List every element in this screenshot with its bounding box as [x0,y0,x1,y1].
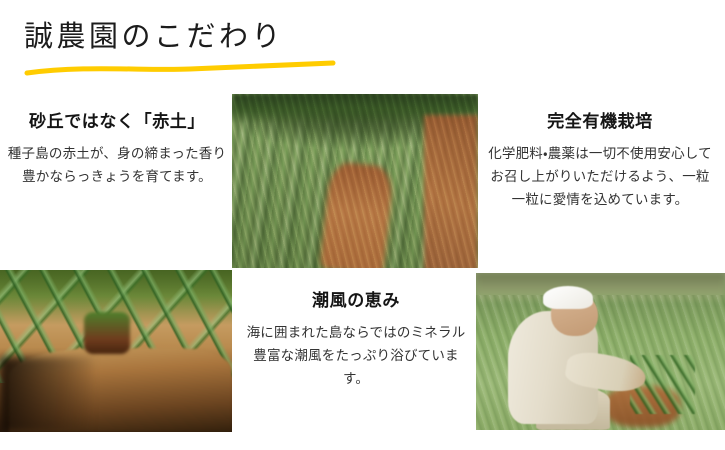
page-title: 誠農園のこだわり [24,18,444,56]
rakkyo-field-rows-photo [232,94,478,268]
title-underline-brushstroke [25,62,335,78]
feature-red-soil-heading: 砂丘ではなく「赤土」 [6,111,228,133]
photo-shadow [0,357,93,432]
feature-sea-breeze-body: 海に囲まれた島ならではのミネラル豊富な潮風をたっぷり浴びています。 [243,321,469,390]
title-block: 誠農園のこだわり [24,18,444,88]
feature-red-soil-body: 種子島の赤土が、身の締まった香り豊かならっきょうを育てます。 [6,142,228,188]
feature-organic-body: 化学肥料・農薬は一切不使用安心してお召し上がりいただけるよう、一粒一粒に愛情を込… [485,142,715,211]
feature-red-soil: 砂丘ではなく「赤土」 種子島の赤土が、身の締まった香り豊かならっきょうを育てます… [6,111,228,188]
farmer-harvesting-photo [476,273,725,430]
page-root: 誠農園のこだわり 砂丘ではなく「赤土」 種子島の赤土が、身の締まった香り豊かなら… [0,0,725,450]
feature-organic: 完全有機栽培 化学肥料・農薬は一切不使用安心してお召し上がりいただけるよう、一粒… [485,111,715,211]
feature-sea-breeze: 潮風の恵み 海に囲まれた島ならではのミネラル豊富な潮風をたっぷり浴びています。 [243,290,469,390]
photo-stalk-base [84,312,130,354]
feature-sea-breeze-heading: 潮風の恵み [243,290,469,312]
red-soil-closeup-photo [0,270,232,432]
feature-organic-heading: 完全有機栽培 [485,111,715,133]
photo-leaf-texture [232,94,478,268]
photo-farmer-headband [543,286,593,310]
